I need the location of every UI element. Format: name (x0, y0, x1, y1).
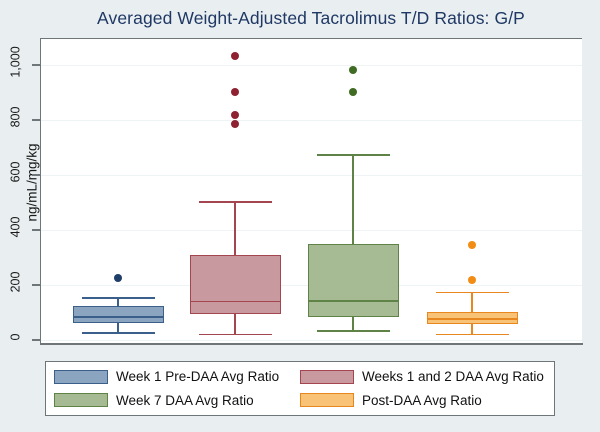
x-axis-line (40, 343, 583, 345)
y-axis-title: ng/mL/mg/kg (25, 103, 40, 263)
chart-figure: Averaged Weight-Adjusted Tacrolimus T/D … (0, 0, 600, 432)
legend-item-weeks1and2-daa: Weeks 1 and 2 DAA Avg Ratio (300, 369, 546, 384)
legend-label-post-daa: Post-DAA Avg Ratio (362, 393, 482, 408)
y-tick-label-200: 200 (0, 275, 30, 289)
y-tick-label-0: 0 (0, 330, 30, 344)
median-line (427, 318, 518, 320)
y-tick-label-400: 400 (0, 220, 30, 234)
legend-swatch-weeks1and2-daa (300, 370, 354, 384)
y-tick-800 (32, 119, 40, 121)
chart-title: Averaged Weight-Adjusted Tacrolimus T/D … (40, 8, 582, 29)
y-tick-label-800: 800 (0, 110, 30, 124)
y-tick-1000 (32, 64, 40, 66)
y-tick-0 (32, 339, 40, 341)
legend-label-weeks1and2-daa: Weeks 1 and 2 DAA Avg Ratio (362, 369, 544, 384)
lower-whisker-cap (436, 334, 509, 336)
legend-item-week1-pre-daa: Week 1 Pre-DAA Avg Ratio (54, 369, 300, 384)
y-tick-label-1000: 1,000 (0, 55, 30, 69)
legend-swatch-post-daa (300, 393, 354, 407)
plot-area (40, 38, 582, 343)
upper-whisker (471, 292, 473, 312)
upper-whisker-cap (436, 292, 509, 294)
legend-label-week1-pre-daa: Week 1 Pre-DAA Avg Ratio (116, 369, 279, 384)
legend-item-week7-daa: Week 7 DAA Avg Ratio (54, 393, 300, 408)
outlier-point (468, 276, 476, 284)
legend-item-post-daa: Post-DAA Avg Ratio (300, 393, 546, 408)
legend-swatch-week7-daa (54, 393, 108, 407)
outlier-point (468, 241, 476, 249)
y-tick-200 (32, 284, 40, 286)
box-plot-4 (41, 39, 582, 343)
lower-whisker (471, 324, 473, 334)
legend-swatch-week1-pre-daa (54, 370, 108, 384)
y-tick-400 (32, 229, 40, 231)
legend-label-week7-daa: Week 7 DAA Avg Ratio (116, 393, 254, 408)
chart-legend: Week 1 Pre-DAA Avg Ratio Weeks 1 and 2 D… (45, 361, 555, 416)
y-tick-600 (32, 174, 40, 176)
y-tick-label-600: 600 (0, 165, 30, 179)
